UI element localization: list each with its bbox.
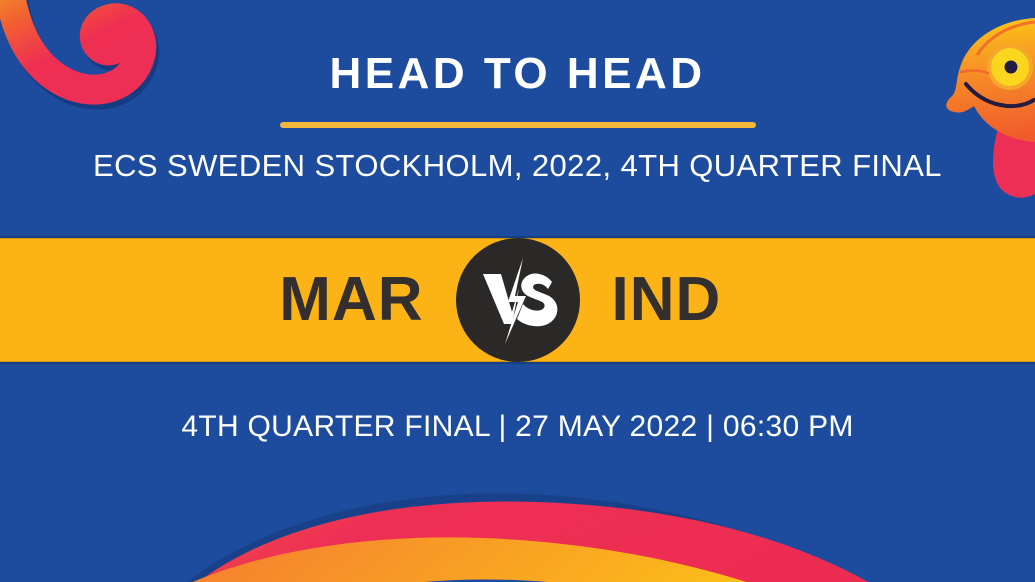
team-right-name: IND xyxy=(580,269,842,331)
poster-footer: 4TH QUARTER FINAL | 27 MAY 2022 | 06:30 … xyxy=(0,362,1035,492)
match-details-text: 4TH QUARTER FINAL | 27 MAY 2022 | 06:30 … xyxy=(181,412,853,442)
matchup-row: MAR VS IND xyxy=(0,238,1035,362)
versus-mark-icon xyxy=(456,238,580,362)
team-left-name: MAR xyxy=(194,269,456,331)
head-to-head-poster: HEAD TO HEAD ECS SWEDEN STOCKHOLM, 2022,… xyxy=(0,0,1035,582)
bottom-swoosh-decoration xyxy=(58,493,1000,582)
title-underline-rule xyxy=(280,122,756,128)
page-title: HEAD TO HEAD xyxy=(329,52,705,96)
versus-badge: VS xyxy=(456,238,580,362)
poster-header: HEAD TO HEAD ECS SWEDEN STOCKHOLM, 2022,… xyxy=(0,0,1035,238)
tournament-subtitle: ECS SWEDEN STOCKHOLM, 2022, 4TH QUARTER … xyxy=(93,150,942,181)
